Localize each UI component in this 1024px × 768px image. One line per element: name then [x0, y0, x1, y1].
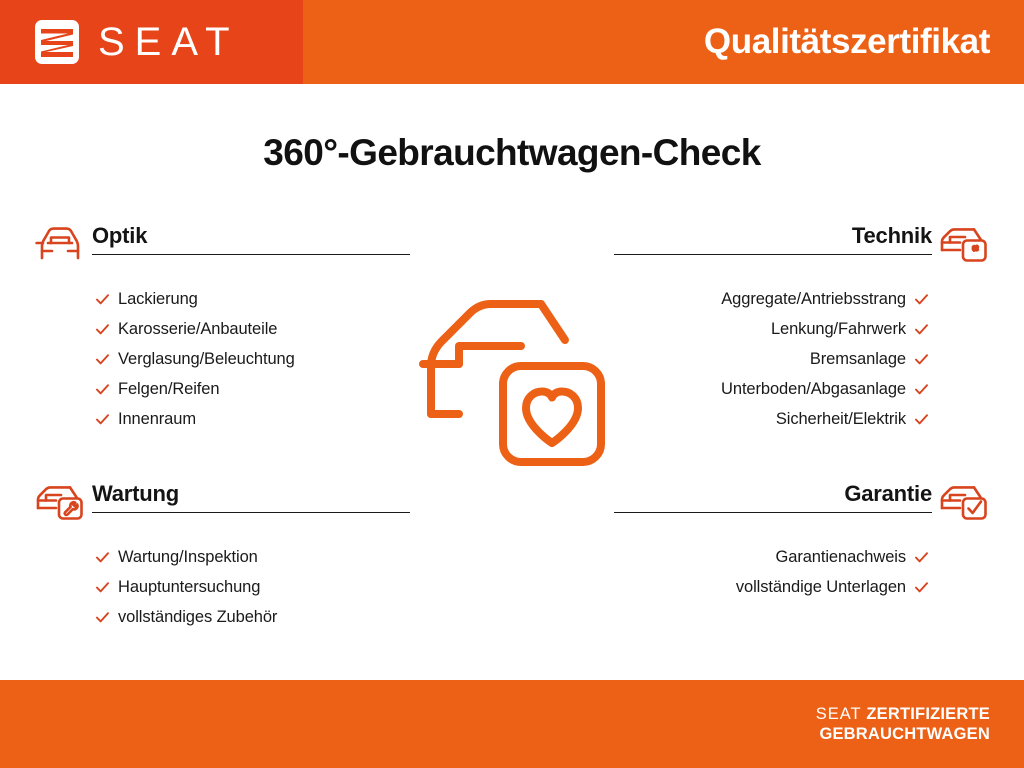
- section-header-text: Optik: [92, 222, 410, 255]
- section-header: Wartung: [30, 480, 420, 526]
- footer-claim-line-2: GEBRAUCHTWAGEN: [816, 724, 990, 744]
- section-header-text: Garantie: [614, 480, 932, 513]
- certificate-page: SEAT Qualitätszertifikat 360°-Gebrauchtw…: [0, 0, 1024, 768]
- section-divider: [92, 512, 410, 513]
- car-gear-icon: [938, 224, 990, 264]
- check-icon: [96, 413, 109, 426]
- brand-logo-block: SEAT: [0, 0, 303, 84]
- check-icon: [96, 323, 109, 336]
- check-icon: [915, 323, 928, 336]
- section-header-text: Technik: [614, 222, 932, 255]
- list-item-label: Verglasung/Beleuchtung: [118, 350, 295, 369]
- check-icon: [915, 551, 928, 564]
- checklist-wartung: Wartung/Inspektion Hauptuntersuchung vol…: [30, 542, 420, 632]
- checklist-technik: Aggregate/Antriebsstrang Lenkung/Fahrwer…: [604, 284, 994, 434]
- section-header-text: Wartung: [92, 480, 410, 513]
- list-item-label: Hauptuntersuchung: [118, 578, 260, 597]
- check-icon: [96, 293, 109, 306]
- footer-claim-brand: SEAT: [816, 705, 862, 723]
- car-wrench-icon: [34, 482, 86, 522]
- section-wartung: Wartung Wartung/Inspektion Hauptuntersuc…: [30, 480, 420, 632]
- list-item: Felgen/Reifen: [30, 374, 420, 404]
- check-icon: [915, 581, 928, 594]
- list-item: Innenraum: [30, 404, 420, 434]
- section-header: Technik: [604, 222, 994, 268]
- header-bar: SEAT Qualitätszertifikat: [0, 0, 1024, 84]
- car-with-heart-icon: [417, 292, 607, 474]
- check-icon: [915, 353, 928, 366]
- list-item-label: Bremsanlage: [810, 350, 906, 369]
- list-item-label: Aggregate/Antriebsstrang: [721, 290, 906, 309]
- brand-wordmark: SEAT: [98, 22, 240, 62]
- check-icon: [96, 551, 109, 564]
- page-title: 360°-Gebrauchtwagen-Check: [0, 132, 1024, 174]
- list-item-label: Lenkung/Fahrwerk: [771, 320, 906, 339]
- list-item-label: vollständige Unterlagen: [736, 578, 906, 597]
- list-item: Sicherheit/Elektrik: [604, 404, 994, 434]
- section-title: Optik: [92, 222, 410, 250]
- list-item-label: Innenraum: [118, 410, 196, 429]
- check-icon: [96, 581, 109, 594]
- list-item: Wartung/Inspektion: [30, 542, 420, 572]
- list-item: vollständige Unterlagen: [604, 572, 994, 602]
- list-item: vollständiges Zubehör: [30, 602, 420, 632]
- seat-s-logo-icon: [34, 19, 80, 65]
- list-item: Lenkung/Fahrwerk: [604, 314, 994, 344]
- check-icon: [96, 353, 109, 366]
- list-item-label: Garantienachweis: [776, 548, 906, 567]
- section-technik: Technik Aggregate/Antriebsstrang Lenkung…: [604, 222, 994, 434]
- check-icon: [915, 413, 928, 426]
- section-title: Wartung: [92, 480, 410, 508]
- list-item-label: vollständiges Zubehör: [118, 608, 277, 627]
- section-header: Optik: [30, 222, 420, 268]
- section-title: Technik: [614, 222, 932, 250]
- list-item: Garantienachweis: [604, 542, 994, 572]
- footer-claim: SEAT ZERTIFIZIERTE GEBRAUCHTWAGEN: [816, 704, 990, 744]
- list-item-label: Sicherheit/Elektrik: [776, 410, 906, 429]
- section-divider: [92, 254, 410, 255]
- check-icon: [915, 293, 928, 306]
- checklist-garantie: Garantienachweis vollständige Unterlagen: [604, 542, 994, 602]
- list-item-label: Felgen/Reifen: [118, 380, 219, 399]
- header-title: Qualitätszertifikat: [704, 22, 990, 62]
- list-item: Karosserie/Anbauteile: [30, 314, 420, 344]
- page-title-emphasis: 360°: [263, 132, 337, 173]
- car-front-icon: [34, 224, 86, 264]
- list-item-label: Wartung/Inspektion: [118, 548, 258, 567]
- list-item: Verglasung/Beleuchtung: [30, 344, 420, 374]
- list-item: Lackierung: [30, 284, 420, 314]
- section-divider: [614, 512, 932, 513]
- section-divider: [614, 254, 932, 255]
- section-garantie: Garantie Garantienachweis vollständige U…: [604, 480, 994, 602]
- section-header: Garantie: [604, 480, 994, 526]
- footer-bar: SEAT ZERTIFIZIERTE GEBRAUCHTWAGEN: [0, 680, 1024, 768]
- footer-claim-word: ZERTIFIZIERTE: [866, 705, 990, 723]
- section-optik: Optik Lackierung Karosserie/Anbauteile V…: [30, 222, 420, 434]
- list-item-label: Lackierung: [118, 290, 198, 309]
- checklist-optik: Lackierung Karosserie/Anbauteile Verglas…: [30, 284, 420, 434]
- list-item: Bremsanlage: [604, 344, 994, 374]
- list-item: Unterboden/Abgasanlage: [604, 374, 994, 404]
- car-check-icon: [938, 482, 990, 522]
- check-icon: [96, 383, 109, 396]
- page-title-rest: -Gebrauchtwagen-Check: [337, 132, 760, 173]
- list-item-label: Unterboden/Abgasanlage: [721, 380, 906, 399]
- list-item: Aggregate/Antriebsstrang: [604, 284, 994, 314]
- section-title: Garantie: [614, 480, 932, 508]
- footer-claim-line-1: SEAT ZERTIFIZIERTE: [816, 704, 990, 724]
- list-item: Hauptuntersuchung: [30, 572, 420, 602]
- list-item-label: Karosserie/Anbauteile: [118, 320, 277, 339]
- check-icon: [96, 611, 109, 624]
- check-icon: [915, 383, 928, 396]
